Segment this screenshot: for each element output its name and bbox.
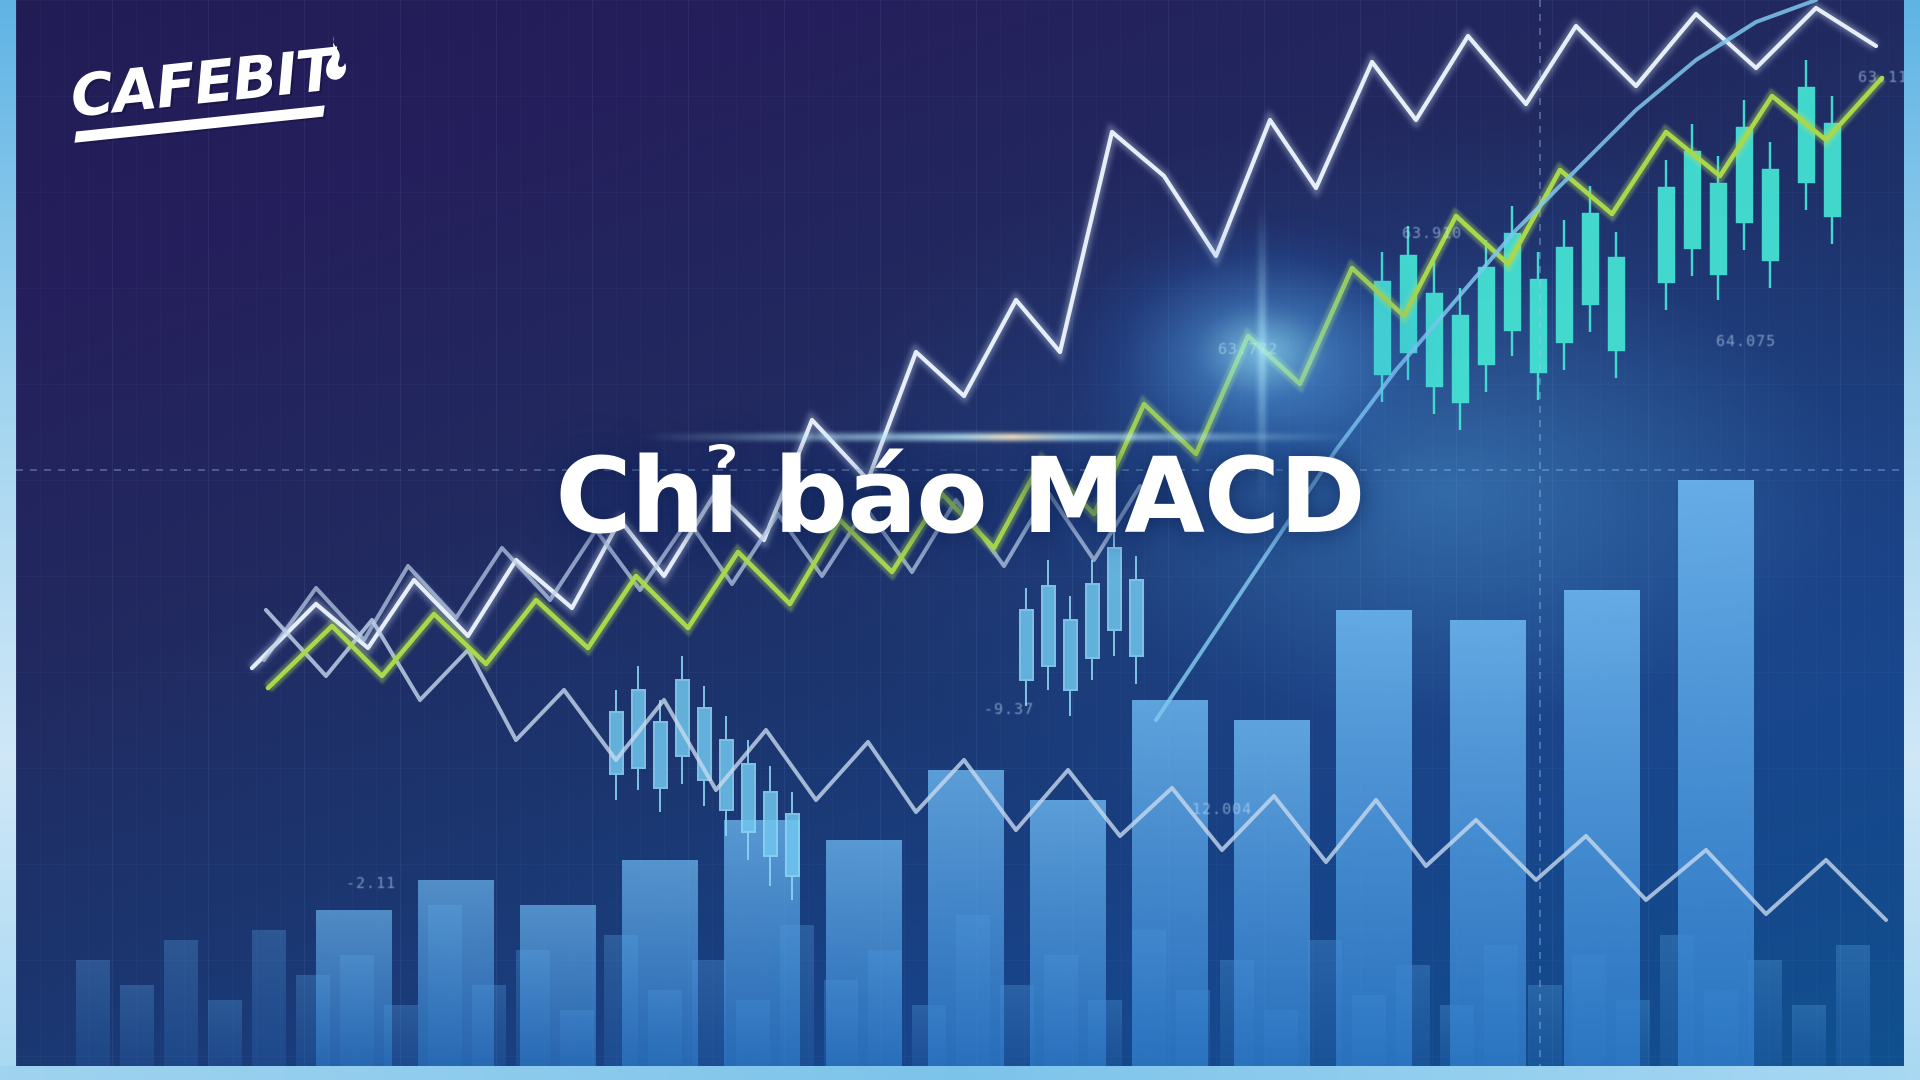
frame-border-bottom bbox=[0, 1066, 1920, 1080]
artwork-stage: 63.772 63.910 64.075 63.118 12.004 -9.37… bbox=[16, 0, 1904, 1066]
frame-border-right bbox=[1904, 0, 1920, 1080]
ticker-price-label-2: 63.910 bbox=[1402, 224, 1462, 242]
trend-line-white bbox=[252, 8, 1876, 668]
ticker-price-label-7: -2.11 bbox=[346, 874, 396, 892]
ticker-price-label-3: 64.075 bbox=[1716, 332, 1776, 350]
ticker-price-label-5: 12.004 bbox=[1192, 800, 1252, 818]
ticker-price-label-6: -9.37 bbox=[984, 700, 1034, 718]
banner-canvas: 63.772 63.910 64.075 63.118 12.004 -9.37… bbox=[0, 0, 1920, 1080]
ticker-price-label-1: 63.772 bbox=[1218, 340, 1278, 358]
ticker-price-label-4: 63.118 bbox=[1858, 68, 1904, 86]
coffee-steam-icon bbox=[312, 32, 361, 88]
page-title: Chỉ báo MACD bbox=[16, 442, 1904, 551]
frame-border-left bbox=[0, 0, 16, 1080]
